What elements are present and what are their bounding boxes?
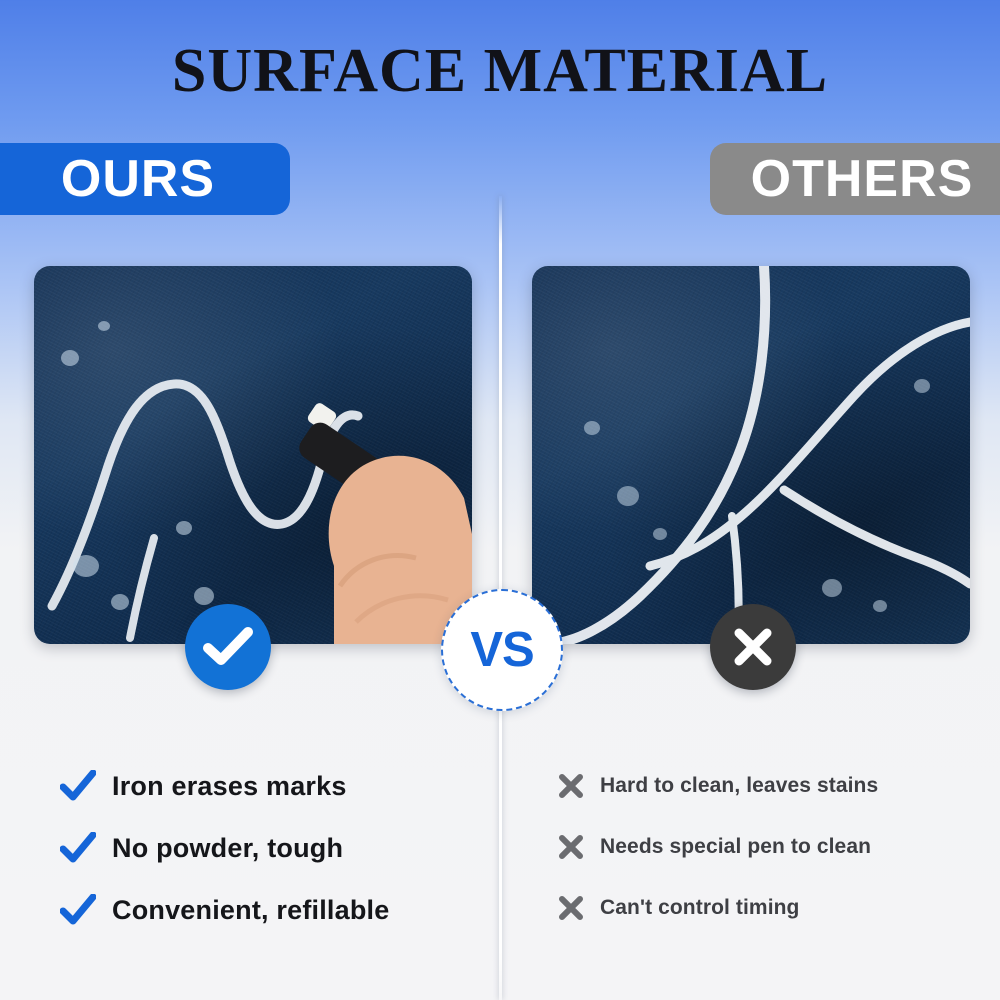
list-item: Iron erases marks (58, 768, 488, 804)
chalk-marks-right (532, 266, 970, 644)
badge-ours: OURS (0, 143, 290, 215)
feature-label: Iron erases marks (112, 771, 347, 802)
check-icon (58, 830, 98, 866)
check-icon (58, 768, 98, 804)
result-check-badge (185, 604, 271, 690)
feature-label: Convenient, refillable (112, 895, 389, 926)
feature-label: Hard to clean, leaves stains (600, 774, 878, 798)
cross-icon (556, 894, 586, 922)
list-item: No powder, tough (58, 830, 488, 866)
feature-list-others: Hard to clean, leaves stains Needs speci… (556, 772, 986, 955)
feature-label: Can't control timing (600, 896, 799, 920)
photo-ours (34, 266, 472, 644)
eraser-pen-illustration (295, 401, 472, 644)
list-item: Hard to clean, leaves stains (556, 772, 986, 800)
feature-list-ours: Iron erases marks No powder, tough Conve… (58, 768, 488, 954)
feature-label: Needs special pen to clean (600, 835, 871, 859)
badge-others: OTHERS (710, 143, 1000, 215)
check-icon (58, 892, 98, 928)
vs-badge: VS (441, 589, 563, 711)
cross-icon (556, 772, 586, 800)
cross-icon (556, 833, 586, 861)
badge-others-label: OTHERS (751, 149, 974, 209)
list-item: Needs special pen to clean (556, 833, 986, 861)
check-icon (203, 626, 253, 668)
result-cross-badge (710, 604, 796, 690)
badge-ours-label: OURS (61, 149, 215, 209)
page-title: SURFACE MATERIAL (0, 36, 1000, 107)
list-item: Convenient, refillable (58, 892, 488, 928)
feature-label: No powder, tough (112, 833, 343, 864)
cross-icon (732, 626, 774, 668)
photo-others (532, 266, 970, 644)
list-item: Can't control timing (556, 894, 986, 922)
vs-label: VS (470, 622, 533, 678)
comparison-infographic: SURFACE MATERIAL OURS OTHERS (0, 0, 1000, 1000)
chalk-marks-left (34, 266, 472, 644)
